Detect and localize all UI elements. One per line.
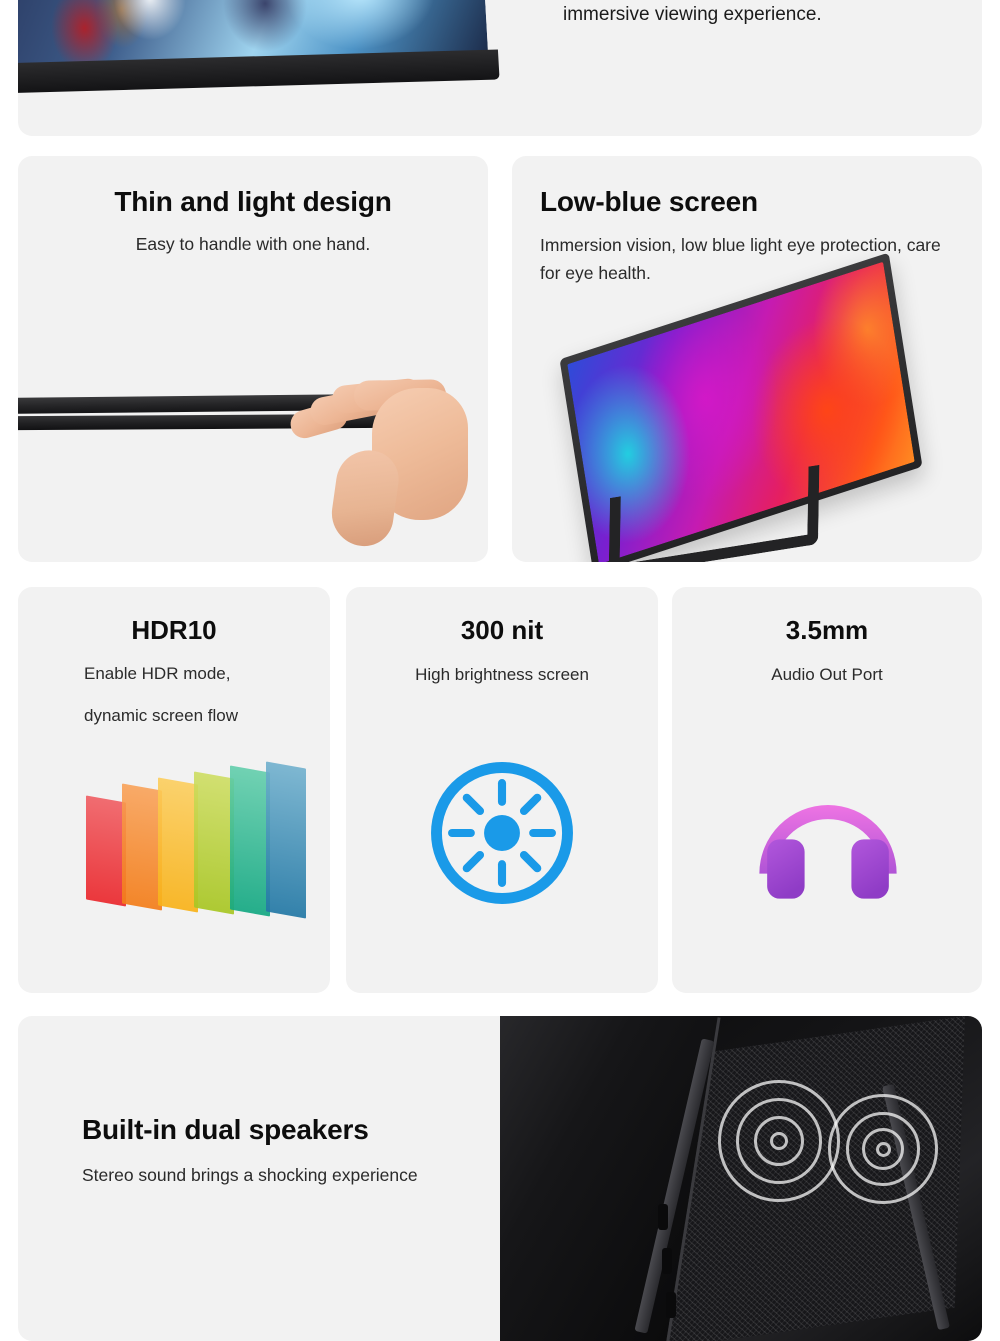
nit-card-header: 300 nit High brightness screen (346, 615, 658, 689)
thin-card-subtitle: Easy to handle with one hand. (18, 231, 488, 259)
feature-card-dual-speakers: Built-in dual speakers Stereo sound brin… (18, 1016, 982, 1341)
lowblue-card-subtitle: Immersion vision, low blue light eye pro… (540, 232, 960, 287)
pane-green (230, 765, 270, 916)
thin-card-illustration (18, 374, 488, 562)
speaker-card-header: Built-in dual speakers Stereo sound brin… (82, 1114, 552, 1190)
hdr-card-subtitle-line2: dynamic screen flow (18, 702, 330, 730)
jack-card-header: 3.5mm Audio Out Port (672, 615, 982, 689)
hero-card: immersive viewing experience. (18, 0, 982, 136)
pane-yellow (158, 777, 198, 912)
hdr-card-header: HDR10 Enable HDR mode, dynamic screen fl… (18, 615, 330, 729)
feature-card-300-nit: 300 nit High brightness screen (346, 587, 658, 993)
hdr-card-title: HDR10 (18, 615, 330, 646)
pane-lime (194, 771, 234, 914)
feature-card-low-blue-screen: Low-blue screen Immersion vision, low bl… (512, 156, 982, 562)
pane-orange (122, 783, 162, 910)
speaker-grille-image (500, 1016, 982, 1341)
jack-card-title: 3.5mm (672, 615, 982, 646)
pane-blue (266, 761, 306, 918)
feature-card-thin-and-light: Thin and light design Easy to handle wit… (18, 156, 488, 562)
feature-card-hdr10: HDR10 Enable HDR mode, dynamic screen fl… (18, 587, 330, 993)
sound-wave-center (876, 1142, 891, 1157)
vent-slot (662, 1248, 672, 1274)
jack-card-subtitle: Audio Out Port (672, 661, 982, 689)
headphones-icon (750, 755, 906, 905)
hero-monitor-image (18, 0, 512, 114)
hand-icon (276, 364, 486, 562)
speaker-card-subtitle: Stereo sound brings a shocking experienc… (82, 1162, 552, 1190)
hero-text: immersive viewing experience. (563, 0, 963, 29)
speaker-card-title: Built-in dual speakers (82, 1114, 552, 1146)
thin-card-header: Thin and light design Easy to handle wit… (18, 186, 488, 259)
lowblue-monitor-illustration (552, 296, 972, 562)
pane-red (86, 795, 126, 906)
layered-color-panes-icon (86, 765, 306, 915)
lowblue-card-header: Low-blue screen Immersion vision, low bl… (540, 186, 960, 287)
feature-card-35mm-audio: 3.5mm Audio Out Port (672, 587, 982, 993)
thumb (328, 446, 403, 550)
nit-card-subtitle: High brightness screen (346, 661, 658, 689)
thin-card-title: Thin and light design (18, 186, 488, 218)
sound-wave-center (770, 1132, 788, 1150)
hdr-card-subtitle-line1: Enable HDR mode, (18, 660, 330, 688)
vent-slot (658, 1204, 668, 1230)
product-feature-page: immersive viewing experience. Thin and l… (0, 0, 1000, 1341)
vent-slot (666, 1292, 676, 1318)
nit-card-title: 300 nit (346, 615, 658, 646)
brightness-sun-icon (424, 755, 580, 911)
lowblue-card-title: Low-blue screen (540, 186, 960, 218)
